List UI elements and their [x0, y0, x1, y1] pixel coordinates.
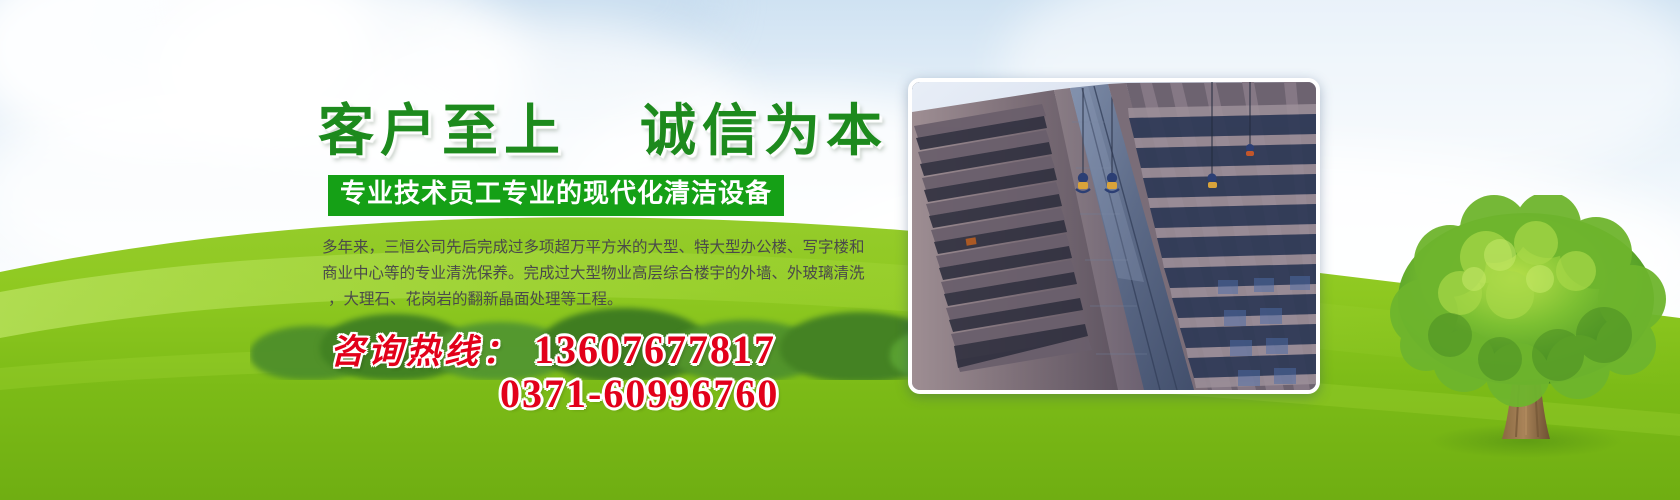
headline-part-1: 客户至上 [318, 101, 566, 163]
building-photo [912, 82, 1316, 390]
description-line-3: ，大理石、花岗岩的翻新晶面处理等工程。 [322, 286, 882, 312]
page-title: 客户至上 诚信为本 [318, 104, 888, 160]
tree-illustration [1390, 195, 1670, 460]
building-photo-card[interactable] [908, 78, 1320, 394]
hotline-landline-number[interactable]: 0371-60996760 [500, 370, 779, 417]
hotline-row: 咨询热线： 13607677817 [330, 324, 776, 373]
promo-banner: 客户至上 诚信为本 专业技术员工专业的现代化清洁设备 多年来，三恒公司先后完成过… [0, 0, 1680, 500]
subtitle-bar: 专业技术员工专业的现代化清洁设备 [328, 175, 784, 216]
description-paragraph: 多年来，三恒公司先后完成过多项超万平方米的大型、特大型办公楼、写字楼和 商业中心… [322, 234, 882, 312]
description-line-1: 多年来，三恒公司先后完成过多项超万平方米的大型、特大型办公楼、写字楼和 [322, 234, 882, 260]
hotline-mobile-number[interactable]: 13607677817 [534, 326, 776, 373]
hotline-label: 咨询热线： [330, 324, 520, 373]
headline-part-2: 诚信为本 [640, 101, 888, 163]
description-line-2: 商业中心等的专业清洗保养。完成过大型物业高层综合楼宇的外墙、外玻璃清洗 [322, 260, 882, 286]
